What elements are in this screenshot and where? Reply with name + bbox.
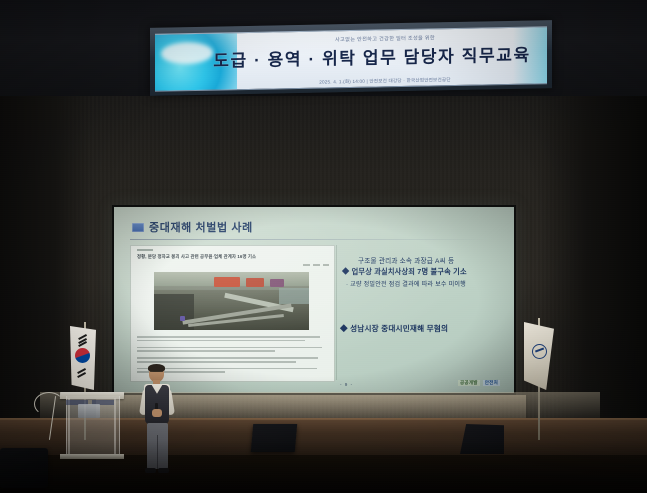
- slide-page-number: - 9 -: [340, 382, 353, 387]
- slide-title-row: 중대재해 처벌법 사례: [132, 219, 253, 235]
- photo-vehicle-3: [270, 279, 284, 287]
- hall-floor: [0, 455, 647, 493]
- slide-logo: 공공개발 안전처: [458, 380, 500, 386]
- korea-flag: [70, 326, 96, 390]
- photo-emergency-vehicle-2: [246, 278, 264, 287]
- news-clipping: 정황, 분당 정자교 붕괴 사고 관련 공무원·업체 관계자 16명 기소: [130, 245, 335, 382]
- presenter-shoe-left: [145, 468, 156, 473]
- slide-point-3: · 교량 정밀안전 점검 결과에 따라 보수 미이행: [346, 279, 466, 288]
- stage-monitor-left: [251, 424, 297, 452]
- presenter-leg-split: [157, 435, 158, 469]
- organization-emblem-icon: [532, 344, 547, 359]
- slide-column-divider: [336, 245, 337, 380]
- presenter-hands: [152, 409, 162, 417]
- news-photo: [154, 272, 309, 330]
- photo-emergency-vehicle: [214, 277, 240, 287]
- slide-point-1: 구조물 관리과 소속 과장급 A씨 등: [358, 255, 454, 265]
- event-banner: 사고없는 안전하고 건강한 일터 조성을 위한 도급 · 용역 · 위탁 업무 …: [155, 26, 547, 92]
- banner-title: 도급 · 용역 · 위탁 업무 담당자 직무교육: [207, 40, 537, 71]
- news-headline: 정황, 분당 정자교 붕괴 사고 관련 공무원·업체 관계자 16명 기소: [137, 254, 327, 260]
- photo-person-marker: [180, 316, 185, 321]
- lectern-base: [60, 454, 124, 459]
- wall-shadow-right: [537, 96, 647, 426]
- auditorium-scene: 사고없는 안전하고 건강한 일터 조성을 위한 도급 · 용역 · 위탁 업무 …: [0, 0, 647, 493]
- banner-date-line: 2025. 4. 1.(화) 14:00 | 안전보건 대강당 · 한국산업안전…: [251, 76, 519, 87]
- news-kicker-bar: [137, 249, 153, 251]
- slide-logo-right: 안전처: [483, 380, 500, 386]
- slide-point-4: ◆ 성남시장 중대시민재해 무혐의: [340, 323, 448, 334]
- lectern-leg-right: [114, 398, 116, 456]
- presenter-shoe-right: [158, 468, 169, 473]
- lectern-leg-left: [68, 398, 70, 456]
- lectern-laptop: [78, 404, 100, 418]
- photo-water: [279, 288, 309, 304]
- presenter: [136, 365, 178, 480]
- slide-title: 중대재해 처벌법 사례: [149, 219, 253, 235]
- slide-title-rule: [130, 239, 486, 240]
- slide-point-2: ◆ 업무상 과실치사상죄 7명 불구속 기소: [342, 267, 467, 277]
- stage-monitor-far-left: [0, 448, 48, 488]
- slide-bullet-icon: [132, 223, 144, 232]
- taeguk-circle-icon: [75, 348, 90, 363]
- stage-monitor-right: [460, 424, 504, 454]
- glasses-icon: [150, 371, 163, 375]
- slide-logo-left: 공공개발: [458, 380, 480, 386]
- news-meta-bar: [303, 264, 329, 266]
